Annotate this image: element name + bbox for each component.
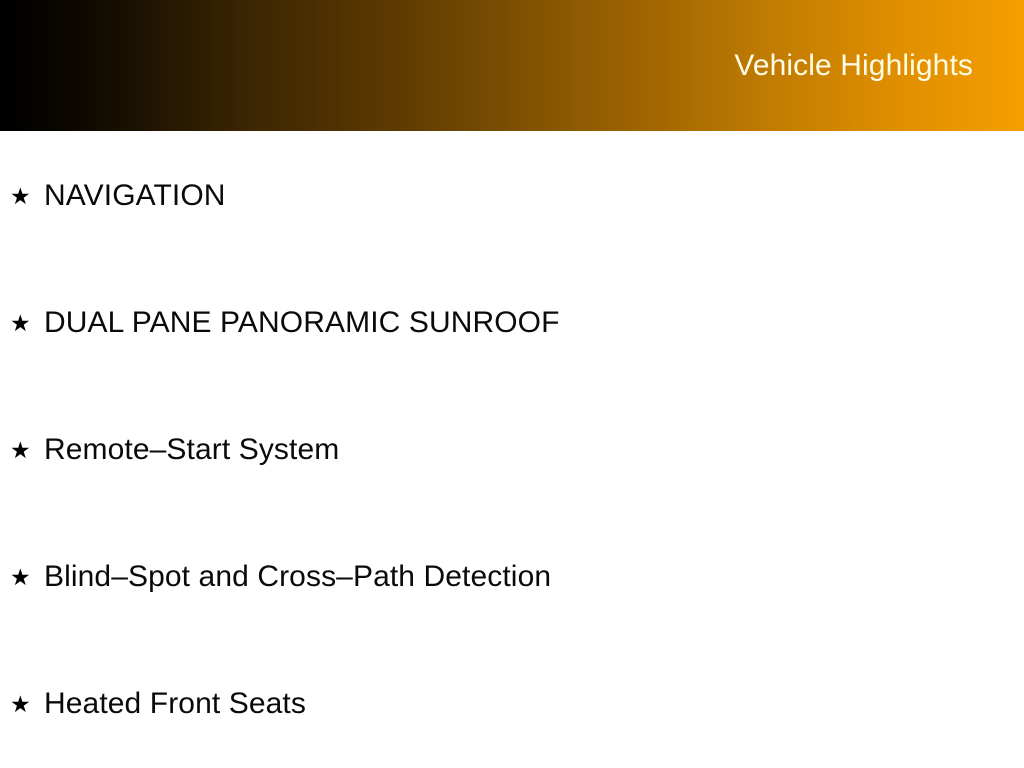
page-title: Vehicle Highlights [734,51,973,81]
star-icon: ★ [10,566,34,589]
list-item: ★ DUAL PANE PANORAMIC SUNROOF [10,303,560,343]
star-icon: ★ [10,439,34,462]
highlight-label: Remote–Start System [44,435,339,465]
list-item: ★ Blind–Spot and Cross–Path Detection [10,557,551,597]
highlight-label: Blind–Spot and Cross–Path Detection [44,562,551,592]
star-icon: ★ [10,312,34,335]
presentation-slide: Vehicle Highlights ★ NAVIGATION ★ DUAL P… [0,0,1024,768]
header-banner: Vehicle Highlights [0,0,1024,131]
star-icon: ★ [10,185,34,208]
highlight-label: Heated Front Seats [44,689,306,719]
star-icon: ★ [10,693,34,716]
list-item: ★ NAVIGATION [10,176,226,216]
list-item: ★ Remote–Start System [10,430,339,470]
list-item: ★ Heated Front Seats [10,684,306,724]
vehicle-highlights-list: ★ NAVIGATION ★ DUAL PANE PANORAMIC SUNRO… [0,131,1024,768]
highlight-label: DUAL PANE PANORAMIC SUNROOF [44,308,560,338]
highlight-label: NAVIGATION [44,181,226,211]
